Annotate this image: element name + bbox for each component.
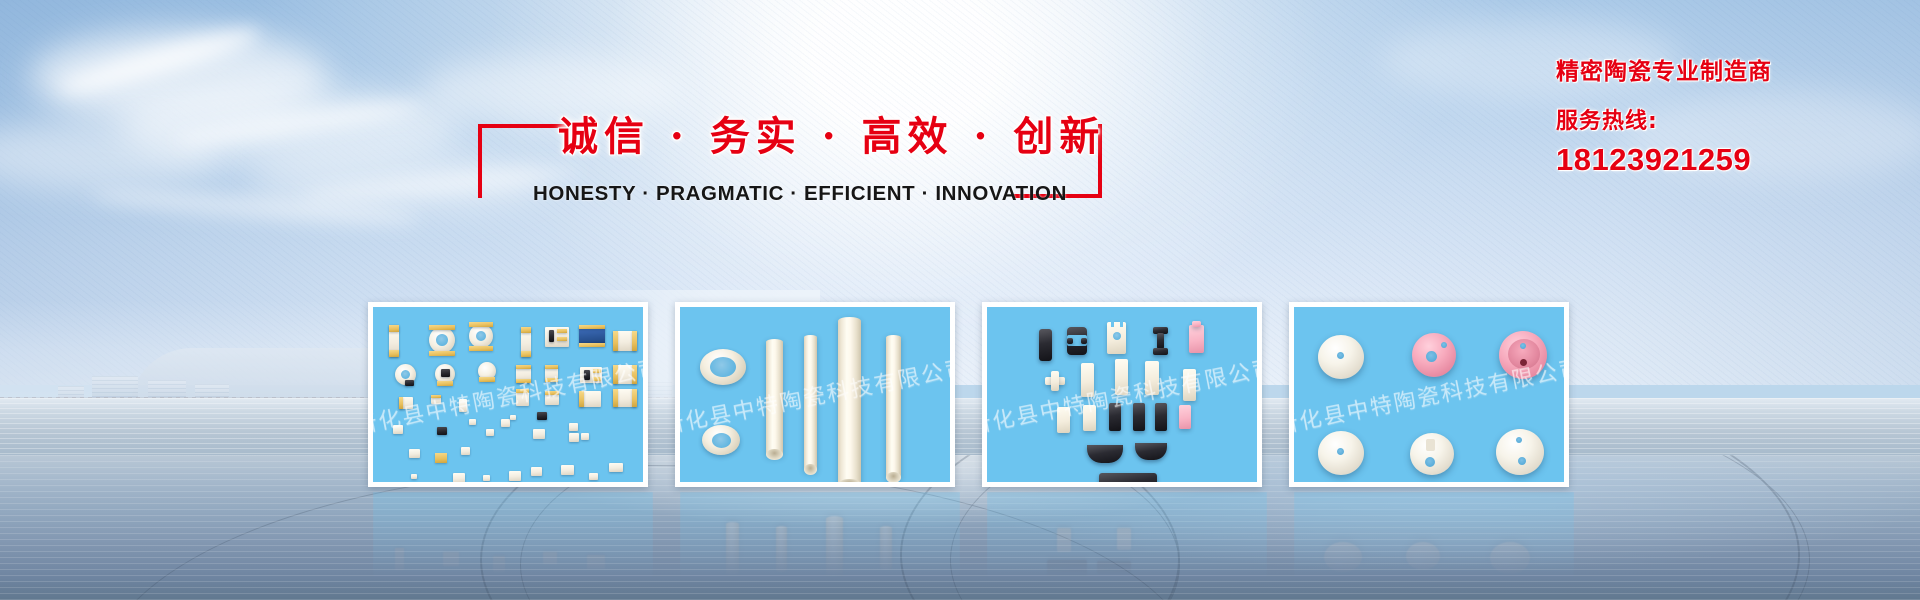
component-shape xyxy=(429,325,455,330)
ceramic-tube-shape xyxy=(804,335,817,472)
component-shape xyxy=(483,475,490,481)
tube-end-cap xyxy=(886,472,901,482)
ceramic-rod-shape xyxy=(1133,403,1145,431)
product-panel-4-image: 新化县中特陶瓷科技有限公司 xyxy=(1294,307,1564,482)
ceramic-rod-shape xyxy=(1179,405,1191,429)
product-panel-row: 新化县中特陶瓷科技有限公司 xyxy=(0,0,1920,600)
component-shape xyxy=(557,329,567,333)
ceramic-rod-shape xyxy=(1081,363,1094,397)
component-shape xyxy=(516,389,529,393)
component-shape xyxy=(435,453,447,463)
ceramic-rod-shape xyxy=(1183,369,1196,401)
ceramic-part-shape xyxy=(1081,338,1087,344)
component-shape xyxy=(389,350,399,357)
component-shape xyxy=(469,322,493,327)
product-panel-3-image: 新化县中特陶瓷科技有限公司 xyxy=(987,307,1257,482)
disc-bore-shape xyxy=(1337,352,1344,359)
component-shape xyxy=(569,423,578,431)
component-shape xyxy=(613,389,618,407)
component-shape xyxy=(609,463,623,472)
ceramic-arc-shape xyxy=(1087,445,1123,463)
ceramic-rod-shape xyxy=(1145,361,1159,395)
component-shape xyxy=(393,425,403,434)
component-shape xyxy=(632,365,637,384)
component-shape xyxy=(461,447,470,455)
disc-bore-shape xyxy=(1337,448,1344,455)
component-shape xyxy=(593,377,601,381)
component-shape xyxy=(441,369,450,377)
component-shape xyxy=(501,419,510,427)
component-shape xyxy=(545,365,558,369)
component-shape xyxy=(476,331,486,341)
product-panel-3[interactable]: 新化县中特陶瓷科技有限公司 xyxy=(982,302,1262,487)
component-shape xyxy=(437,381,453,386)
ceramic-nozzle-shape xyxy=(1496,429,1544,475)
component-shape xyxy=(632,331,637,351)
ceramic-part-shape xyxy=(1039,329,1052,361)
ring-bore-shape xyxy=(710,357,736,377)
tube-end-cap xyxy=(804,464,817,475)
product-panel-2-image: 新化县中特陶瓷科技有限公司 xyxy=(680,307,950,482)
component-shape xyxy=(545,391,559,395)
component-shape xyxy=(521,327,531,333)
component-shape xyxy=(516,365,531,369)
product-panel-2[interactable]: 新化县中特陶瓷科技有限公司 xyxy=(675,302,955,487)
component-shape xyxy=(579,325,605,329)
disc-slot-shape xyxy=(1426,439,1435,451)
ceramic-cross-shape xyxy=(1051,371,1059,391)
component-shape xyxy=(479,377,495,382)
ceramic-rod-shape xyxy=(1115,359,1128,395)
component-shape xyxy=(579,343,605,347)
ceramic-tube-shape xyxy=(838,317,861,482)
component-shape xyxy=(389,325,399,332)
ceramic-arc-shape xyxy=(1099,473,1157,482)
component-shape xyxy=(409,449,420,458)
component-shape xyxy=(469,346,493,351)
ceramic-tube-shape xyxy=(886,335,901,480)
component-shape xyxy=(569,433,579,442)
ceramic-part-shape xyxy=(1192,321,1201,327)
component-shape xyxy=(399,397,403,409)
product-panel-4[interactable]: 新化县中特陶瓷科技有限公司 xyxy=(1289,302,1569,487)
ceramic-arc-shape xyxy=(1135,443,1167,460)
component-shape xyxy=(584,370,590,380)
component-shape xyxy=(509,471,521,481)
component-shape xyxy=(437,427,447,435)
ceramic-rod-shape xyxy=(1155,403,1167,431)
component-shape xyxy=(579,391,584,407)
component-shape xyxy=(459,399,467,412)
disc-bore-shape xyxy=(1516,437,1522,443)
ceramic-rod-shape xyxy=(1109,403,1121,431)
ceramic-part-shape xyxy=(1157,333,1164,349)
component-shape xyxy=(537,412,547,420)
disc-bore-shape xyxy=(1518,457,1526,465)
component-shape xyxy=(401,370,410,379)
component-shape xyxy=(545,378,558,382)
component-shape xyxy=(510,415,516,420)
component-shape xyxy=(533,429,545,439)
part-bore-shape xyxy=(1113,332,1121,340)
component-shape xyxy=(486,429,494,436)
ceramic-part-notch xyxy=(1120,320,1123,327)
component-shape xyxy=(557,337,567,341)
component-shape xyxy=(589,473,598,480)
disc-bore-shape xyxy=(1426,351,1437,362)
component-shape xyxy=(521,351,531,357)
component-shape xyxy=(405,380,414,386)
component-shape xyxy=(411,474,417,479)
ceramic-part-shape xyxy=(1067,338,1073,344)
component-shape xyxy=(632,389,637,407)
component-shape xyxy=(593,369,601,373)
component-shape xyxy=(531,467,542,476)
component-shape xyxy=(561,465,574,475)
component-shape xyxy=(453,473,465,482)
component-shape xyxy=(581,433,589,440)
disc-bore-shape xyxy=(1520,343,1526,349)
tube-end-cap xyxy=(838,479,861,482)
tube-end-cap xyxy=(766,449,783,460)
product-panel-1[interactable]: 新化县中特陶瓷科技有限公司 xyxy=(368,302,648,487)
disc-bore-shape xyxy=(1441,342,1447,348)
component-shape xyxy=(429,351,455,356)
ceramic-part-notch xyxy=(1111,320,1114,327)
component-shape xyxy=(431,395,441,398)
component-shape xyxy=(516,379,531,383)
ceramic-tube-shape xyxy=(766,339,783,457)
disc-bore-shape xyxy=(1520,359,1527,366)
product-panel-1-image: 新化县中特陶瓷科技有限公司 xyxy=(373,307,643,482)
component-shape xyxy=(549,330,554,342)
promotional-banner: 诚信 · 务实 · 高效 · 创新 HONESTY · PRAGMATIC · … xyxy=(0,0,1920,600)
ceramic-part-shape xyxy=(1153,348,1168,355)
component-shape xyxy=(436,334,448,346)
disc-bore-shape xyxy=(1425,457,1435,467)
component-shape xyxy=(613,331,618,351)
ceramic-part-shape xyxy=(1189,325,1204,353)
component-shape xyxy=(613,365,618,384)
ceramic-rod-shape xyxy=(1083,405,1096,431)
ring-bore-shape xyxy=(712,433,731,448)
component-shape xyxy=(469,419,476,425)
ceramic-rod-shape xyxy=(1057,407,1070,433)
